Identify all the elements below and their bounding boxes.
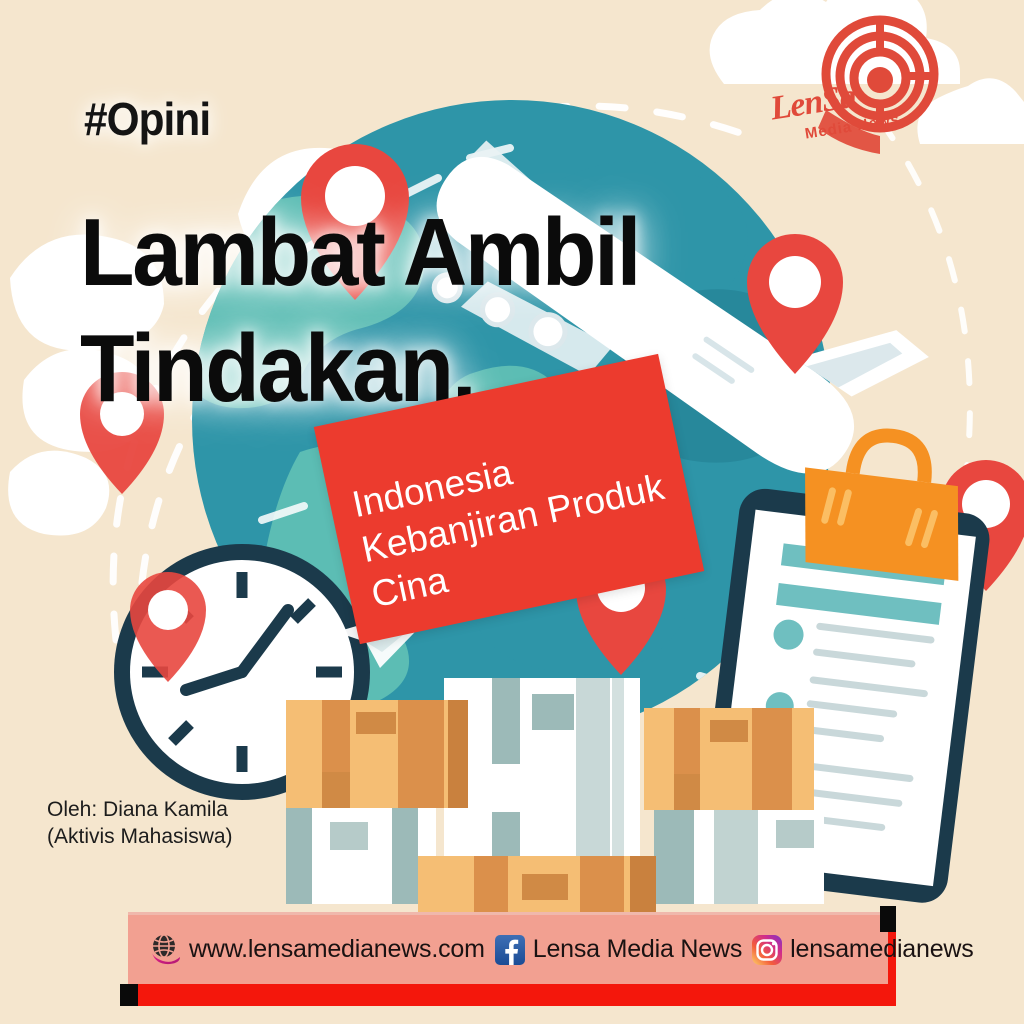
corner-mark-bottom-left	[120, 984, 138, 1006]
byline-author: Oleh: Diana Kamila	[47, 797, 233, 824]
lensa-logo-icon: LenSa Media News	[752, 14, 964, 166]
author-byline: Oleh: Diana Kamila (Aktivis Mahasiswa)	[47, 797, 233, 851]
footer-item-instagram[interactable]: lensamedianews	[751, 934, 973, 966]
footer-item-facebook[interactable]: Lensa Media News	[494, 934, 742, 966]
corner-mark-top-right	[880, 906, 896, 932]
facebook-icon	[494, 934, 526, 966]
footer-bar: www.lensamedianews.com Lensa Media News	[128, 912, 888, 984]
poster-canvas: LenSa Media News #Opini Lambat Ambil Tin…	[0, 0, 1024, 1024]
hashtag-label: #Opini	[84, 92, 210, 146]
footer-facebook-label: Lensa Media News	[533, 935, 742, 964]
headline-line-1: Lambat Ambil	[80, 206, 675, 300]
globe-icon	[148, 933, 182, 967]
byline-role: (Aktivis Mahasiswa)	[47, 824, 233, 851]
parcel-boxes-illustration	[286, 678, 824, 926]
lensa-logo: LenSa Media News	[752, 14, 964, 166]
footer-website-label: www.lensamedianews.com	[189, 935, 485, 964]
footer-item-website[interactable]: www.lensamedianews.com	[148, 933, 485, 967]
footer-instagram-label: lensamedianews	[790, 935, 973, 964]
instagram-icon	[751, 934, 783, 966]
